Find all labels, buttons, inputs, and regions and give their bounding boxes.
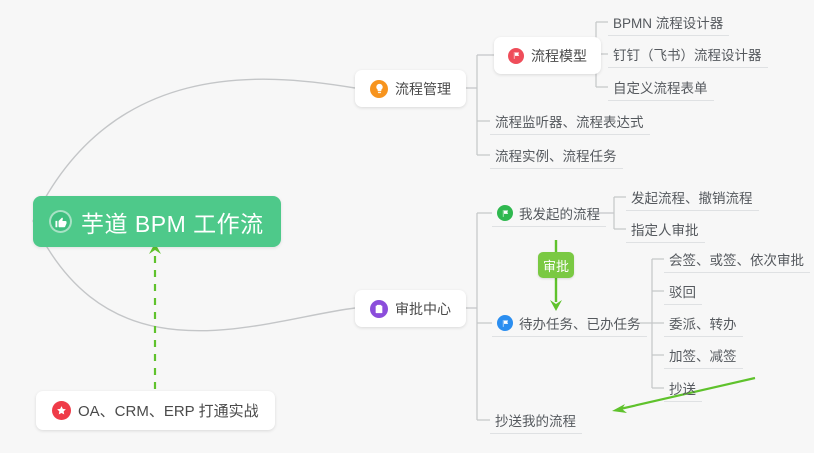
approval-badge-label: 审批 [543,256,569,275]
approval-badge: 审批 [538,252,574,278]
node-flow-instance-task[interactable]: 流程实例、流程任务 [490,142,623,169]
flag-icon [497,315,513,331]
node-countersign[interactable]: 会签、或签、依次审批 [664,246,810,273]
clipboard-icon [370,300,388,318]
node-todo-done-tasks[interactable]: 待办任务、已办任务 [492,310,647,337]
node-cc-my-flows-label: 抄送我的流程 [495,410,576,430]
node-flow-model-label: 流程模型 [531,46,587,66]
node-assignee-approval[interactable]: 指定人审批 [626,216,705,243]
node-dingtalk-designer-label: 钉钉（飞书）流程设计器 [613,44,762,64]
thumbs-up-icon [49,210,72,233]
node-delegate-transfer-label: 委派、转办 [669,313,737,333]
node-bpmn-designer-label: BPMN 流程设计器 [613,12,723,32]
node-custom-form-label: 自定义流程表单 [613,77,708,97]
node-flow-listener-expression[interactable]: 流程监听器、流程表达式 [490,108,650,135]
node-cc-label: 抄送 [669,378,696,398]
node-flow-management-label: 流程管理 [395,79,451,99]
node-approval-center[interactable]: 审批中心 [355,290,466,327]
link-cc-arrowhead [612,404,627,413]
node-assignee-approval-label: 指定人审批 [631,219,699,239]
flag-icon [497,205,513,221]
node-my-started-flows-label: 我发起的流程 [519,203,600,223]
node-dingtalk-designer[interactable]: 钉钉（飞书）流程设计器 [608,41,768,68]
node-add-remove-sign-label: 加签、减签 [669,345,737,365]
lightbulb-icon [370,80,388,98]
node-my-started-flows[interactable]: 我发起的流程 [492,200,606,227]
node-cc-my-flows[interactable]: 抄送我的流程 [490,407,582,434]
node-bpmn-designer[interactable]: BPMN 流程设计器 [608,9,729,36]
node-todo-done-tasks-label: 待办任务、已办任务 [519,313,641,333]
node-add-remove-sign[interactable]: 加签、减签 [664,342,743,369]
node-start-cancel-flow-label: 发起流程、撤销流程 [631,187,753,207]
root-node-label: 芋道 BPM 工作流 [81,205,264,239]
node-cc[interactable]: 抄送 [664,375,702,402]
node-countersign-label: 会签、或签、依次审批 [669,249,804,269]
node-approval-center-label: 审批中心 [395,299,451,319]
node-flow-instance-task-label: 流程实例、流程任务 [495,145,617,165]
node-oa-crm-erp[interactable]: OA、CRM、ERP 打通实战 [36,391,275,430]
star-icon [52,401,71,420]
node-reject[interactable]: 驳回 [664,278,702,305]
node-delegate-transfer[interactable]: 委派、转办 [664,310,743,337]
node-reject-label: 驳回 [669,281,696,301]
node-custom-form[interactable]: 自定义流程表单 [608,74,714,101]
flag-icon [508,48,524,64]
node-flow-model[interactable]: 流程模型 [494,37,601,74]
node-flow-listener-expression-label: 流程监听器、流程表达式 [495,111,644,131]
node-oa-crm-erp-label: OA、CRM、ERP 打通实战 [78,400,259,421]
root-node[interactable]: 芋道 BPM 工作流 [33,196,281,247]
mindmap-canvas: 芋道 BPM 工作流 流程管理 流程模型 BPMN 流程设计器 钉钉（飞书）流程… [0,0,814,453]
node-flow-management[interactable]: 流程管理 [355,70,466,107]
node-start-cancel-flow[interactable]: 发起流程、撤销流程 [626,184,759,211]
